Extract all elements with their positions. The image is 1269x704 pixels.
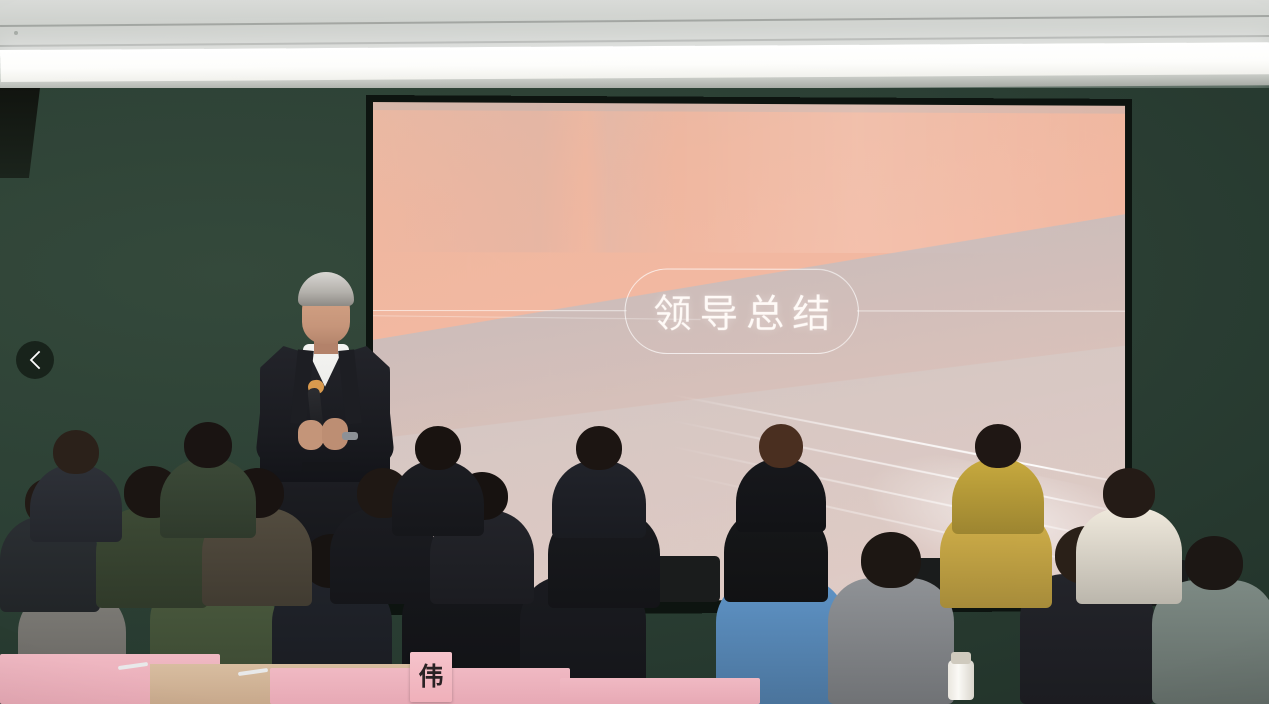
- audience-member: [736, 414, 826, 532]
- audience-member-head: [415, 426, 461, 470]
- audience-member-head: [975, 424, 1021, 468]
- presenter-wristwatch: [342, 432, 358, 440]
- audience-member-head: [1185, 536, 1243, 590]
- audience-member-torso: [392, 460, 484, 536]
- audience-member: [1076, 458, 1182, 604]
- audience-member-head: [53, 430, 99, 474]
- audience-member-head: [759, 424, 803, 468]
- water-bottle: [948, 660, 974, 700]
- audience-member: [160, 412, 256, 538]
- prev-button[interactable]: [16, 341, 54, 379]
- audience-member-head: [184, 422, 232, 468]
- audience-member-head: [861, 532, 921, 588]
- audience-member-torso: [552, 460, 646, 538]
- audience-member-torso: [1076, 508, 1182, 604]
- slide-title-pill: 领导总结: [625, 268, 859, 354]
- audience-member: [552, 416, 646, 538]
- audience-member-torso: [952, 458, 1044, 534]
- audience-member-torso: [160, 458, 256, 538]
- screenshot-root: 领导总结: [0, 0, 1269, 704]
- table-front-right: [560, 678, 760, 704]
- audience-member-head: [1103, 468, 1155, 518]
- slide-title-connector-left: [373, 310, 627, 312]
- audience-member-torso: [30, 464, 122, 542]
- name-placard-text: 伟: [418, 665, 443, 690]
- audience-member: [952, 414, 1044, 534]
- audience-member: [828, 522, 954, 704]
- projector-banding: [373, 102, 1125, 254]
- audience-member: [30, 420, 122, 542]
- name-placard: 伟: [410, 652, 452, 702]
- audience-member-head: [576, 426, 622, 470]
- chevron-left-icon: [28, 350, 42, 370]
- audience-member-torso: [828, 578, 954, 704]
- audience-member-torso: [736, 458, 826, 532]
- slide-title-connector-right: [857, 310, 1125, 312]
- ceiling-fixture-screw: [14, 31, 18, 35]
- presenter-hair: [298, 272, 354, 306]
- water-bottle-cap: [951, 652, 971, 664]
- slide-title: 领导总结: [645, 283, 838, 339]
- audience-member: [392, 416, 484, 536]
- ceiling-seam: [0, 15, 1269, 27]
- audience-area: 伟: [0, 440, 1269, 704]
